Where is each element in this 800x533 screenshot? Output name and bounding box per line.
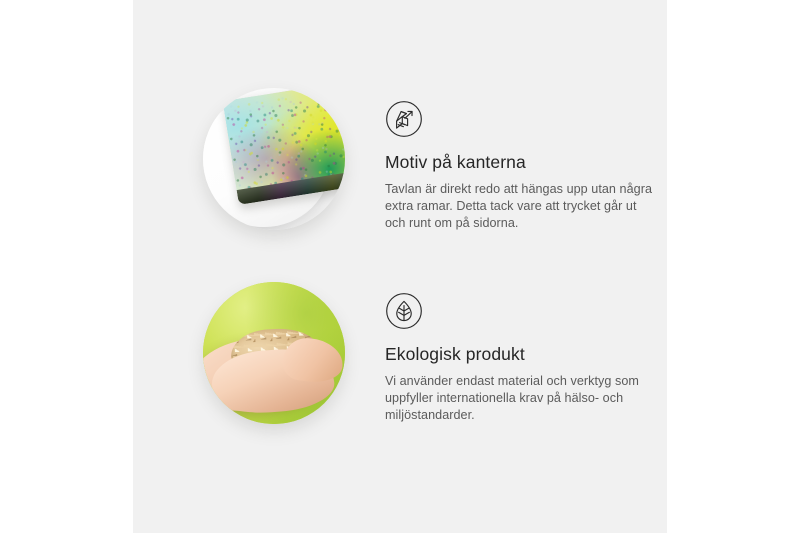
leaf-icon [385,292,423,330]
canvas-photo-background [203,88,345,230]
product-feature-graphic: Motiv på kanterna Tavlan är direkt redo … [0,0,800,533]
feature-title: Ekologisk produkt [385,344,657,365]
content-panel: Motiv på kanterna Tavlan är direkt redo … [133,0,667,533]
feature-copy: Ekologisk produkt Vi använder endast mat… [385,292,657,424]
feature-block-ekologisk-produkt: Ekologisk produkt Vi använder endast mat… [133,274,667,454]
canvas-wrapped-edge-icon [385,100,423,138]
canvas-print-corner-photo [203,88,345,230]
hands-holding-wood-chips-photo [203,282,345,424]
canvas-print-corner-photo-wrapper [203,88,345,230]
grass-background [203,282,345,424]
feature-copy: Motiv på kanterna Tavlan är direkt redo … [385,100,657,232]
feature-description: Vi använder endast material och verktyg … [385,373,657,424]
feature-description: Tavlan är direkt redo att hängas upp uta… [385,181,657,232]
canvas-print-block [223,88,345,205]
feature-title: Motiv på kanterna [385,152,657,173]
hands-holding-wood-chips-photo-wrapper [203,282,345,424]
feature-block-motiv-pa-kanterna: Motiv på kanterna Tavlan är direkt redo … [133,80,667,260]
